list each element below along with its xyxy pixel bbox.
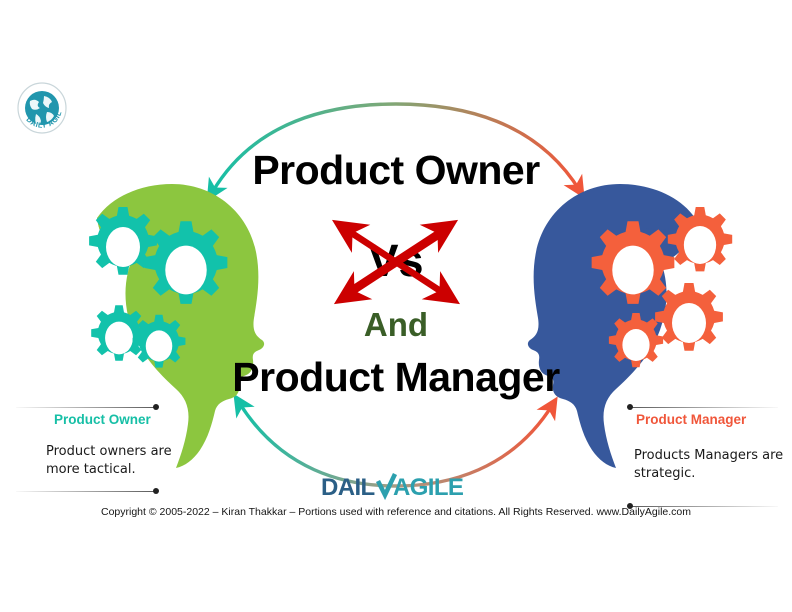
globe-logo: DAILY AGILE bbox=[16, 82, 68, 138]
callout-label-product-manager: Product Manager bbox=[636, 412, 746, 428]
dailyagile-watermark: DAIL AGILE bbox=[0, 473, 792, 501]
infographic-canvas: DAILY AGILE bbox=[0, 0, 792, 612]
copyright-text: Copyright © 2005-2022 – Kiran Thakkar – … bbox=[0, 506, 792, 518]
and-label: And bbox=[0, 308, 792, 341]
vs-badge: Vs bbox=[336, 231, 456, 293]
leader-line-right-top bbox=[630, 407, 778, 408]
globe-logo-icon: DAILY AGILE bbox=[16, 82, 68, 138]
svg-text:AGILE: AGILE bbox=[393, 474, 464, 501]
leader-line-left-top bbox=[16, 407, 156, 408]
page-title-product-owner: Product Owner bbox=[0, 150, 792, 191]
callout-label-product-owner: Product Owner bbox=[54, 412, 151, 428]
page-title-product-manager: Product Manager bbox=[0, 357, 792, 398]
svg-text:DAIL: DAIL bbox=[321, 474, 375, 501]
dailyagile-wordmark-icon: DAIL AGILE bbox=[321, 473, 471, 501]
gears-right bbox=[592, 207, 733, 367]
leader-dot-left-top bbox=[153, 404, 159, 410]
red-cross-out-icon bbox=[332, 219, 460, 305]
leader-dot-right-top bbox=[627, 404, 633, 410]
gears-left bbox=[89, 207, 227, 368]
